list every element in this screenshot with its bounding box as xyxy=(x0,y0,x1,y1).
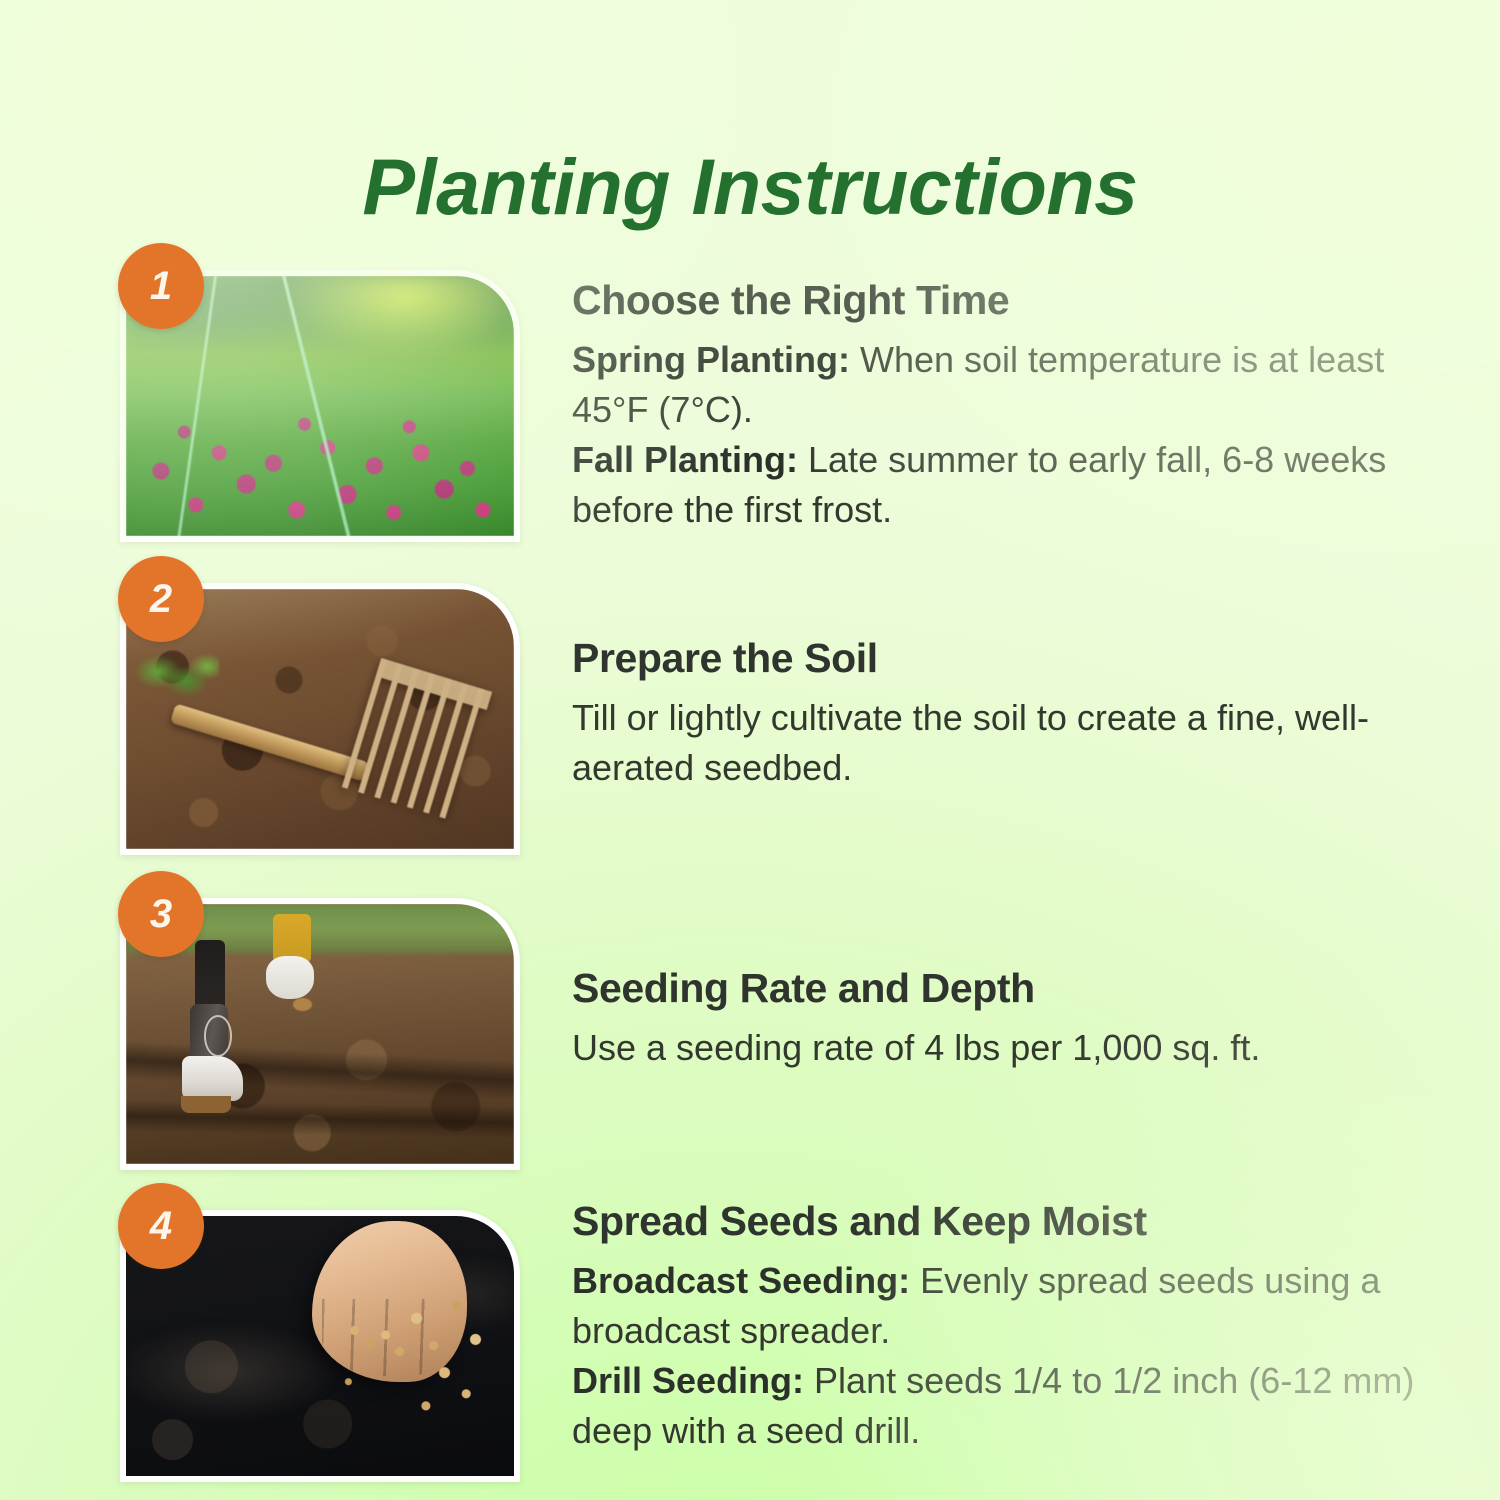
boot-foot xyxy=(182,1056,242,1101)
gloved-hand-artwork xyxy=(262,914,324,1008)
step-4-number-badge: 4 xyxy=(118,1183,204,1269)
step-3-text-1: Use a seeding rate of 4 lbs per 1,000 sq… xyxy=(572,1027,1260,1068)
boot-sole xyxy=(181,1096,232,1113)
soil-sprout-artwork xyxy=(134,651,219,703)
step-3-heading: Seeding Rate and Depth xyxy=(572,961,1432,1015)
step-3-number-badge: 3 xyxy=(118,871,204,957)
step-1-copy: Choose the Right Time Spring Planting: W… xyxy=(572,273,1432,535)
step-1-heading: Choose the Right Time xyxy=(572,273,1432,327)
falling-seed xyxy=(293,998,312,1011)
white-glove xyxy=(266,956,314,999)
step-1-body-line-2: Fall Planting: Late summer to early fall… xyxy=(572,435,1432,535)
rubber-boot-artwork xyxy=(173,940,254,1127)
planting-instructions-poster: Planting Instructions 1 Choose the Right… xyxy=(0,0,1500,1500)
step-2-body-line-1: Till or lightly cultivate the soil to cr… xyxy=(572,693,1432,793)
step-3-copy: Seeding Rate and Depth Use a seeding rat… xyxy=(572,961,1432,1073)
step-4: 4 Spread Seeds and Keep Moist Broadcast … xyxy=(0,1180,1500,1480)
page-title: Planting Instructions xyxy=(0,139,1500,235)
step-4-label-2: Drill Seeding: xyxy=(572,1360,804,1401)
step-2: 2 Prepare the Soil Till or lightly culti… xyxy=(0,553,1500,853)
step-1-label-1: Spring Planting: xyxy=(572,339,850,380)
step-4-copy: Spread Seeds and Keep Moist Broadcast Se… xyxy=(572,1194,1432,1456)
step-1: 1 Choose the Right Time Spring Planting:… xyxy=(0,240,1500,540)
step-4-label-1: Broadcast Seeding: xyxy=(572,1260,910,1301)
step-1-number-badge: 1 xyxy=(118,243,204,329)
step-4-heading: Spread Seeds and Keep Moist xyxy=(572,1194,1432,1248)
scattered-seeds-artwork xyxy=(336,1273,491,1424)
step-2-text-1: Till or lightly cultivate the soil to cr… xyxy=(572,697,1369,788)
step-4-body-line-1: Broadcast Seeding: Evenly spread seeds u… xyxy=(572,1256,1432,1356)
step-1-label-2: Fall Planting: xyxy=(572,439,798,480)
step-4-body-line-2: Drill Seeding: Plant seeds 1/4 to 1/2 in… xyxy=(572,1356,1432,1456)
step-2-number-badge: 2 xyxy=(118,556,204,642)
step-2-heading: Prepare the Soil xyxy=(572,631,1432,685)
step-3-body-line-1: Use a seeding rate of 4 lbs per 1,000 sq… xyxy=(572,1023,1432,1073)
step-1-body-line-1: Spring Planting: When soil temperature i… xyxy=(572,335,1432,435)
step-3: 3 Seeding Rate and Depth Use a seeding r… xyxy=(0,868,1500,1168)
step-2-copy: Prepare the Soil Till or lightly cultiva… xyxy=(572,631,1432,793)
boot-lace xyxy=(204,1015,232,1056)
